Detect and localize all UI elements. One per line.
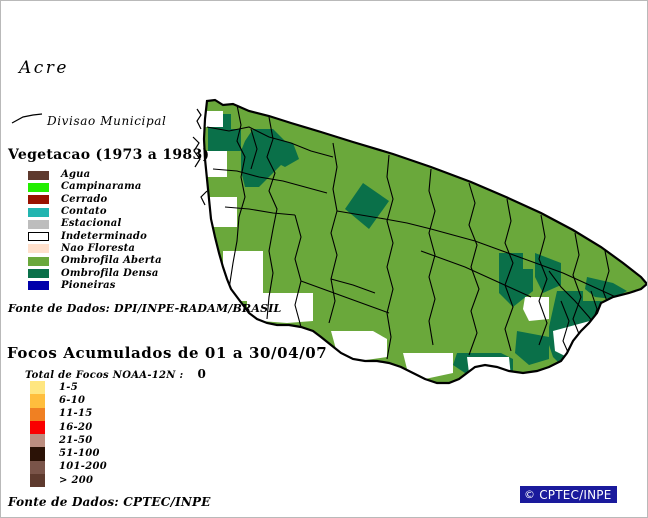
focos-swatch-51-100	[30, 447, 45, 460]
legend-label-indeterminado: Indeterminado	[61, 232, 147, 242]
legend-swatch-ombrofila-densa	[28, 269, 49, 278]
legend-item-indeterminado: Indeterminado	[28, 230, 162, 242]
focos-title: Focos Acumulados de 01 a 30/04/07	[7, 344, 327, 362]
focos-label-21-50: 21-50	[59, 436, 92, 446]
vegetation-legend: Agua Campinarama Cerrado Contato Estacio…	[28, 169, 162, 292]
legend-item-nao-floresta: Nao Floresta	[28, 243, 162, 255]
legend-label-agua: Agua	[61, 170, 90, 180]
divisao-municipal-label: Divisao Municipal	[47, 114, 166, 128]
legend-swatch-campinarama	[28, 183, 49, 192]
legend-swatch-contato	[28, 208, 49, 217]
focos-item-21-50: 21-50	[30, 434, 107, 447]
vegetation-source-label: Fonte de Dados: DPI/INPE-RADAM/BRASIL	[8, 302, 282, 315]
focos-item-101-200: 101-200	[30, 461, 107, 474]
legend-label-nao-floresta: Nao Floresta	[61, 244, 135, 254]
focos-source-label: Fonte de Dados: CPTEC/INPE	[8, 495, 211, 509]
page-title: Acre	[19, 58, 69, 78]
cutout-south-1	[331, 331, 387, 361]
legend-swatch-nao-floresta	[28, 244, 49, 253]
legend-item-campinarama: Campinarama	[28, 181, 162, 193]
focos-label-gt-200: > 200	[59, 476, 93, 486]
focos-total-label: Total de Focos NOAA-12N :	[25, 370, 184, 381]
focos-item-1-5: 1-5	[30, 381, 107, 394]
vegetation-legend-title: Vegetacao (1973 a 1983)	[8, 147, 209, 163]
legend-swatch-indeterminado	[28, 232, 49, 241]
legend-swatch-pioneiras	[28, 281, 49, 290]
focos-label-51-100: 51-100	[59, 449, 100, 459]
focos-label-16-20: 16-20	[59, 423, 92, 433]
focos-swatch-21-50	[30, 434, 45, 447]
focos-label-11-15: 11-15	[59, 409, 92, 419]
legend-item-ombrofila-densa: Ombrofila Densa	[28, 267, 162, 279]
legend-item-cerrado: Cerrado	[28, 194, 162, 206]
legend-item-pioneiras: Pioneiras	[28, 280, 162, 292]
legend-label-ombrofila-aberta: Ombrofila Aberta	[61, 256, 162, 266]
legend-item-agua: Agua	[28, 169, 162, 181]
cutout-nw-corner	[205, 111, 223, 127]
legend-item-ombrofila-aberta: Ombrofila Aberta	[28, 255, 162, 267]
cptec-inpe-logo: © CPTEC/INPE	[520, 486, 617, 503]
focos-label-6-10: 6-10	[59, 396, 85, 406]
focos-swatch-11-15	[30, 408, 45, 421]
focos-swatch-gt-200	[30, 474, 45, 487]
cptec-inpe-logo-text: CPTEC/INPE	[539, 488, 611, 502]
legend-label-ombrofila-densa: Ombrofila Densa	[61, 269, 159, 279]
legend-label-pioneiras: Pioneiras	[61, 281, 116, 291]
focos-item-gt-200: > 200	[30, 474, 107, 487]
focos-swatch-101-200	[30, 461, 45, 474]
legend-swatch-agua	[28, 171, 49, 180]
focos-total-value: 0	[198, 367, 207, 381]
legend-item-estacional: Estacional	[28, 218, 162, 230]
legend-label-estacional: Estacional	[61, 219, 121, 229]
legend-label-contato: Contato	[61, 207, 107, 217]
legend-label-cerrado: Cerrado	[61, 195, 107, 205]
focos-label-101-200: 101-200	[59, 462, 107, 472]
focos-item-16-20: 16-20	[30, 421, 107, 434]
legend-swatch-ombrofila-aberta	[28, 257, 49, 266]
copyright-icon: ©	[524, 489, 535, 500]
divisao-municipal-icon	[11, 113, 43, 125]
map-page: Acre Divisao Municipal Vegetacao (1973 a…	[0, 0, 648, 518]
focos-total-line: Total de Focos NOAA-12N :0	[25, 367, 206, 381]
focos-swatch-6-10	[30, 394, 45, 407]
focos-item-6-10: 6-10	[30, 394, 107, 407]
focos-swatch-1-5	[30, 381, 45, 394]
focos-label-1-5: 1-5	[59, 383, 78, 393]
legend-swatch-estacional	[28, 220, 49, 229]
legend-item-contato: Contato	[28, 206, 162, 218]
legend-label-campinarama: Campinarama	[61, 182, 142, 192]
focos-legend: 1-5 6-10 11-15 16-20 21-50 51-100 101-20…	[30, 381, 107, 487]
focos-swatch-16-20	[30, 421, 45, 434]
focos-item-11-15: 11-15	[30, 408, 107, 421]
focos-item-51-100: 51-100	[30, 447, 107, 460]
legend-swatch-cerrado	[28, 195, 49, 204]
